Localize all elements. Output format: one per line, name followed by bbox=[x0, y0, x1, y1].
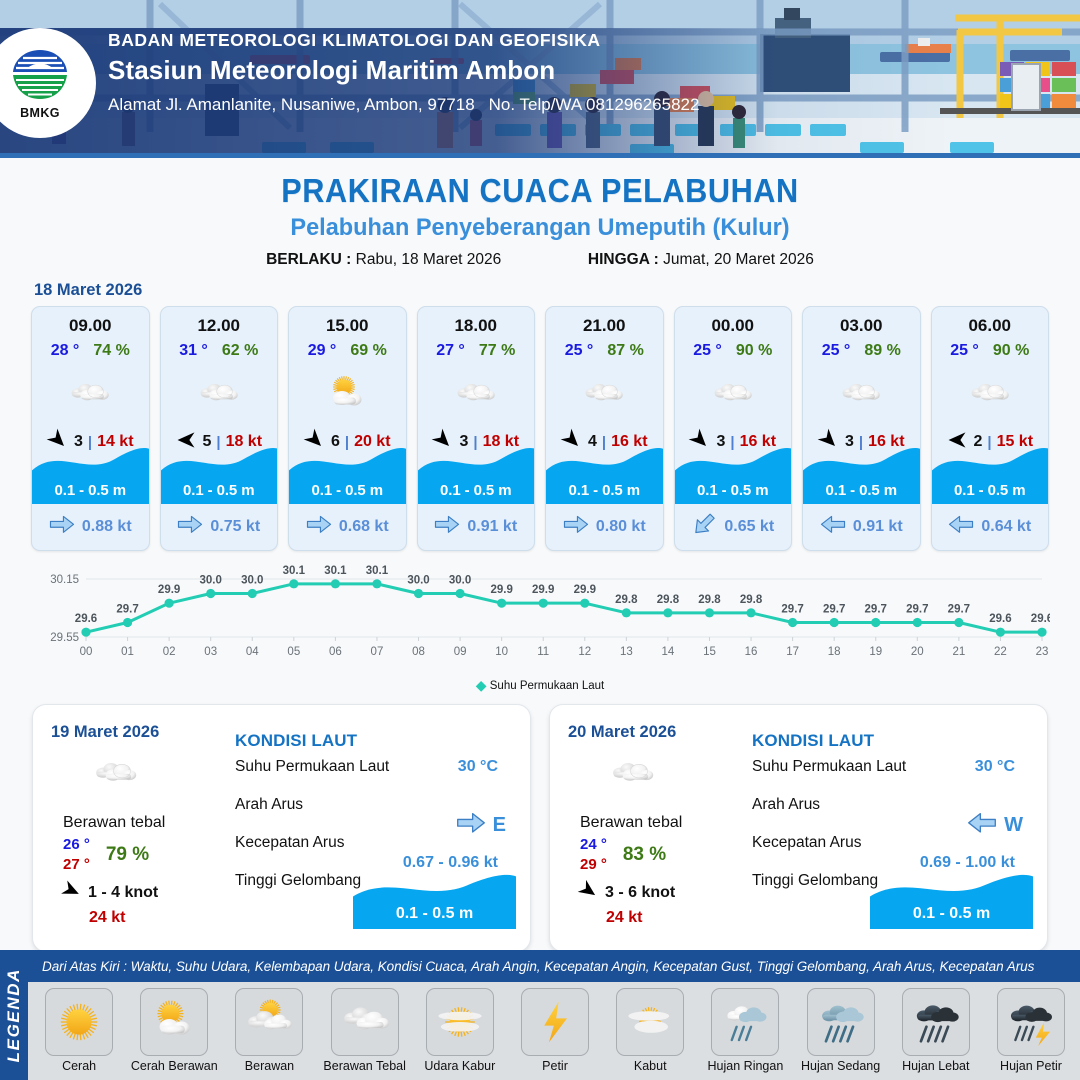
daily-wave-height: 0.1 - 0.5 m bbox=[353, 899, 516, 929]
card-current-speed: 0.88 kt bbox=[82, 518, 132, 536]
svg-text:29.8: 29.8 bbox=[698, 594, 721, 606]
svg-text:29.7: 29.7 bbox=[948, 604, 970, 616]
card-humidity: 69 % bbox=[350, 342, 386, 360]
address-text: Alamat Jl. Amanlanite, Nusaniwe, Ambon, … bbox=[108, 95, 475, 114]
header-accent-bar bbox=[0, 153, 1080, 158]
card-temp-hum: 25 ° 89 % bbox=[822, 342, 901, 360]
cloudy-icon bbox=[602, 748, 748, 802]
svg-text:10: 10 bbox=[495, 646, 508, 658]
current-speed-value: 0.69 - 1.00 kt bbox=[920, 854, 1015, 872]
page-header: BMKG BADAN METEOROLOGI KLIMATOLOGI DAN G… bbox=[0, 0, 1080, 158]
svg-text:29.9: 29.9 bbox=[490, 584, 512, 596]
legend-item-label: Kabut bbox=[634, 1059, 667, 1073]
legend-item-label: Cerah Berawan bbox=[131, 1059, 218, 1073]
station-name: Stasiun Meteorologi Maritim Ambon bbox=[108, 55, 699, 86]
card-current-row: 0.65 kt bbox=[675, 515, 792, 539]
card-wave-height: 0.1 - 0.5 m bbox=[289, 476, 406, 504]
card-time: 15.00 bbox=[326, 316, 369, 336]
hourly-card: 12.00 31 ° 62 % bbox=[160, 306, 279, 551]
fog-icon bbox=[616, 988, 684, 1056]
cloudy-icon bbox=[803, 369, 920, 421]
card-wave-height: 0.1 - 0.5 m bbox=[161, 476, 278, 504]
daily-wind-row: 1 - 4 knot bbox=[61, 880, 231, 905]
partly-cloudy-icon bbox=[289, 369, 406, 421]
daily-forecast-card: 19 Maret 2026 Berawan tebal bbox=[32, 704, 531, 952]
svg-text:08: 08 bbox=[412, 646, 425, 658]
card-temperature: 25 ° bbox=[565, 342, 594, 360]
svg-text:29.7: 29.7 bbox=[823, 604, 845, 616]
legend-item: Hujan Petir bbox=[986, 988, 1076, 1078]
card-wave-height: 0.1 - 0.5 m bbox=[803, 476, 920, 504]
hourly-card: 09.00 28 ° 74 % bbox=[31, 306, 150, 551]
daily-humidity: 83 % bbox=[623, 844, 666, 866]
page-subtitle: Pelabuhan Penyeberangan Umeputih (Kulur) bbox=[22, 214, 1059, 242]
current-direction-row: Arah Arus E bbox=[235, 796, 512, 827]
svg-text:00: 00 bbox=[80, 646, 93, 658]
current-speed-row: Kecepatan Arus 0.69 - 1.00 kt bbox=[752, 834, 1029, 865]
legend-main: Dari Atas Kiri : Waktu, Suhu Udara, Kele… bbox=[28, 950, 1080, 1080]
svg-text:09: 09 bbox=[454, 646, 467, 658]
card-temp-hum: 25 ° 90 % bbox=[950, 342, 1029, 360]
hourly-card: 21.00 25 ° 87 % bbox=[545, 306, 664, 551]
legend-item: Kabut bbox=[605, 988, 695, 1078]
sea-section-title: KONDISI LAUT bbox=[752, 731, 1029, 751]
svg-text:30.1: 30.1 bbox=[366, 565, 389, 577]
svg-text:20: 20 bbox=[911, 646, 924, 658]
daily-date: 19 Maret 2026 bbox=[51, 723, 231, 742]
svg-text:29.6: 29.6 bbox=[1031, 613, 1050, 625]
svg-text:29.7: 29.7 bbox=[906, 604, 928, 616]
light-rain-icon bbox=[711, 988, 779, 1056]
cloudy-icon bbox=[675, 369, 792, 421]
valid-to-label: HINGGA : bbox=[588, 251, 659, 268]
current-direction-arrow-icon bbox=[49, 515, 75, 539]
daily-condition: Berawan tebal bbox=[580, 814, 748, 832]
daily-wind-row: 3 - 6 knot bbox=[578, 880, 748, 905]
current-direction-label: Arah Arus bbox=[235, 796, 303, 813]
svg-text:30.0: 30.0 bbox=[449, 575, 471, 587]
svg-text:22: 22 bbox=[994, 646, 1007, 658]
card-temperature: 31 ° bbox=[179, 342, 208, 360]
svg-text:16: 16 bbox=[745, 646, 758, 658]
current-direction-arrow-icon bbox=[306, 515, 332, 539]
svg-text:30.0: 30.0 bbox=[241, 575, 263, 587]
card-humidity: 90 % bbox=[736, 342, 772, 360]
svg-text:29.7: 29.7 bbox=[865, 604, 887, 616]
legend-item-label: Hujan Ringan bbox=[708, 1059, 784, 1073]
daily-sea-conditions: KONDISI LAUT Suhu Permukaan Laut 30 °C A… bbox=[231, 705, 530, 951]
card-temp-hum: 29 ° 69 % bbox=[308, 342, 387, 360]
daily-left: 20 Maret 2026 Berawan tebal bbox=[550, 705, 748, 951]
daily-sea-conditions: KONDISI LAUT Suhu Permukaan Laut 30 °C A… bbox=[748, 705, 1047, 951]
card-current-row: 0.91 kt bbox=[803, 515, 920, 539]
daily-temp-max: 29 ° bbox=[580, 856, 607, 873]
legend-item-label: Hujan Sedang bbox=[801, 1059, 880, 1073]
sst-chart: 30.1529.55000102030405060708091011121314… bbox=[30, 565, 1050, 675]
sst-label: Suhu Permukaan Laut bbox=[235, 758, 389, 775]
svg-text:11: 11 bbox=[537, 646, 549, 658]
page-title: PRAKIRAAN CUACA PELABUHAN bbox=[38, 172, 1042, 210]
valid-from-label: BERLAKU : bbox=[266, 251, 351, 268]
svg-text:17: 17 bbox=[786, 646, 799, 658]
svg-text:30.0: 30.0 bbox=[200, 575, 222, 587]
card-temp-hum: 25 ° 90 % bbox=[693, 342, 772, 360]
legend-item: Hujan Ringan bbox=[700, 988, 790, 1078]
card-temperature: 25 ° bbox=[822, 342, 851, 360]
card-time: 21.00 bbox=[583, 316, 626, 336]
daily-wind-range: 3 - 6 knot bbox=[605, 884, 675, 902]
card-wave-height: 0.1 - 0.5 m bbox=[932, 476, 1049, 504]
card-time: 18.00 bbox=[454, 316, 497, 336]
phone-label: No. Telp/WA bbox=[489, 95, 582, 114]
svg-text:23: 23 bbox=[1036, 646, 1049, 658]
bmkg-logo-mark bbox=[9, 47, 71, 105]
card-wave-height: 0.1 - 0.5 m bbox=[418, 476, 535, 504]
hourly-card: 18.00 27 ° 77 % bbox=[417, 306, 536, 551]
daily-temp-max: 27 ° bbox=[63, 856, 90, 873]
lightning-icon bbox=[521, 988, 589, 1056]
svg-text:30.15: 30.15 bbox=[50, 574, 79, 586]
card-temperature: 29 ° bbox=[308, 342, 337, 360]
card-temperature: 28 ° bbox=[51, 342, 80, 360]
svg-text:02: 02 bbox=[163, 646, 176, 658]
contact-line: Alamat Jl. Amanlanite, Nusaniwe, Ambon, … bbox=[108, 95, 699, 115]
current-direction-arrow-icon bbox=[434, 515, 460, 539]
legend-side-label: LEGENDA bbox=[4, 968, 24, 1062]
svg-text:21: 21 bbox=[952, 646, 965, 658]
svg-text:03: 03 bbox=[204, 646, 217, 658]
svg-text:29.8: 29.8 bbox=[615, 594, 638, 606]
daily-humidity: 79 % bbox=[106, 844, 149, 866]
cloudy-icon bbox=[932, 369, 1049, 421]
current-speed-row: Kecepatan Arus 0.67 - 0.96 kt bbox=[235, 834, 512, 865]
card-current-speed: 0.91 kt bbox=[467, 518, 517, 536]
card-temp-hum: 28 ° 74 % bbox=[51, 342, 130, 360]
svg-text:29.9: 29.9 bbox=[158, 584, 180, 596]
svg-text:29.55: 29.55 bbox=[50, 632, 79, 644]
sst-label: Suhu Permukaan Laut bbox=[752, 758, 906, 775]
legend-side-banner: LEGENDA bbox=[0, 950, 28, 1080]
legend-item-label: Berawan Tebal bbox=[323, 1059, 405, 1073]
chart-legend-label: Suhu Permukaan Laut bbox=[490, 680, 604, 692]
svg-text:29.6: 29.6 bbox=[989, 613, 1011, 625]
current-direction-arrow-icon bbox=[820, 515, 846, 539]
sst-row: Suhu Permukaan Laut 30 °C bbox=[235, 758, 512, 789]
card-temp-hum: 25 ° 87 % bbox=[565, 342, 644, 360]
daily-temp-min: 24 ° bbox=[580, 836, 607, 853]
card-humidity: 77 % bbox=[479, 342, 515, 360]
sun-behind-clouds-icon bbox=[235, 988, 303, 1056]
card-current-speed: 0.80 kt bbox=[596, 518, 646, 536]
daily-wind-range: 1 - 4 knot bbox=[88, 884, 158, 902]
legend-item-label: Hujan Lebat bbox=[902, 1059, 969, 1073]
valid-to-value: Jumat, 20 Maret 2026 bbox=[663, 251, 814, 268]
sst-chart-svg: 30.1529.55000102030405060708091011121314… bbox=[30, 565, 1050, 675]
card-current-row: 0.80 kt bbox=[546, 515, 663, 539]
svg-text:18: 18 bbox=[828, 646, 841, 658]
cloudy-icon bbox=[161, 369, 278, 421]
card-current-speed: 0.91 kt bbox=[853, 518, 903, 536]
daily-gust: 24 kt bbox=[89, 909, 231, 927]
cloudy-icon bbox=[85, 748, 231, 802]
card-current-row: 0.75 kt bbox=[161, 515, 278, 539]
hourly-forecast-row: 09.00 28 ° 74 % bbox=[0, 306, 1080, 551]
card-current-speed: 0.65 kt bbox=[724, 518, 774, 536]
sst-value: 30 °C bbox=[458, 758, 498, 776]
daily-wave-height: 0.1 - 0.5 m bbox=[870, 899, 1033, 929]
current-direction-row: Arah Arus W bbox=[752, 796, 1029, 827]
svg-text:29.8: 29.8 bbox=[657, 594, 680, 606]
legend-item-label: Berawan bbox=[245, 1059, 294, 1073]
svg-text:19: 19 bbox=[869, 646, 882, 658]
svg-text:12: 12 bbox=[578, 646, 591, 658]
legend-item: Petir bbox=[510, 988, 600, 1078]
card-humidity: 89 % bbox=[864, 342, 900, 360]
card-temp-hum: 27 ° 77 % bbox=[436, 342, 515, 360]
current-speed-label: Kecepatan Arus bbox=[752, 834, 861, 851]
sea-section-title: KONDISI LAUT bbox=[235, 731, 512, 751]
daily-gust: 24 kt bbox=[606, 909, 748, 927]
current-speed-value: 0.67 - 0.96 kt bbox=[403, 854, 498, 872]
heavy-rain-icon bbox=[902, 988, 970, 1056]
card-current-row: 0.88 kt bbox=[32, 515, 149, 539]
wave-height-label: Tinggi Gelombang bbox=[235, 872, 361, 889]
daily-forecast-row: 19 Maret 2026 Berawan tebal bbox=[0, 694, 1080, 952]
current-speed-label: Kecepatan Arus bbox=[235, 834, 344, 851]
legend-item: Cerah bbox=[34, 988, 124, 1078]
wind-direction-arrow-icon bbox=[61, 880, 82, 905]
cloudy-icon bbox=[418, 369, 535, 421]
legend-item-label: Petir bbox=[542, 1059, 568, 1073]
haze-icon bbox=[426, 988, 494, 1056]
chart-legend-marker-icon: ◆ bbox=[476, 677, 487, 693]
svg-text:30.1: 30.1 bbox=[324, 565, 347, 577]
card-current-speed: 0.75 kt bbox=[210, 518, 260, 536]
card-current-row: 0.64 kt bbox=[932, 515, 1049, 539]
hourly-card: 06.00 25 ° 90 % bbox=[931, 306, 1050, 551]
svg-text:30.1: 30.1 bbox=[283, 565, 306, 577]
legend-item: Berawan Tebal bbox=[320, 988, 410, 1078]
daily-left: 19 Maret 2026 Berawan tebal bbox=[33, 705, 231, 951]
card-current-speed: 0.64 kt bbox=[981, 518, 1031, 536]
legend-item-label: Hujan Petir bbox=[1000, 1059, 1062, 1073]
card-time: 09.00 bbox=[69, 316, 112, 336]
legend-section: LEGENDA Dari Atas Kiri : Waktu, Suhu Uda… bbox=[0, 950, 1080, 1080]
cloudy-icon bbox=[32, 369, 149, 421]
card-humidity: 87 % bbox=[607, 342, 643, 360]
svg-text:29.6: 29.6 bbox=[75, 613, 97, 625]
current-direction-arrow-icon bbox=[177, 515, 203, 539]
svg-text:15: 15 bbox=[703, 646, 716, 658]
wind-direction-arrow-icon bbox=[578, 880, 599, 905]
daily-condition: Berawan tebal bbox=[63, 814, 231, 832]
svg-text:29.9: 29.9 bbox=[532, 584, 554, 596]
current-direction-label: Arah Arus bbox=[752, 796, 820, 813]
card-time: 12.00 bbox=[197, 316, 240, 336]
card-current-row: 0.91 kt bbox=[418, 515, 535, 539]
moderate-rain-icon bbox=[807, 988, 875, 1056]
card-humidity: 90 % bbox=[993, 342, 1029, 360]
legend-item: Hujan Lebat bbox=[891, 988, 981, 1078]
card-wave-height: 0.1 - 0.5 m bbox=[546, 476, 663, 504]
card-temp-hum: 31 ° 62 % bbox=[179, 342, 258, 360]
daily-date: 20 Maret 2026 bbox=[568, 723, 748, 742]
legend-note: Dari Atas Kiri : Waktu, Suhu Udara, Kele… bbox=[28, 950, 1080, 982]
daily-forecast-card: 20 Maret 2026 Berawan tebal bbox=[549, 704, 1048, 952]
svg-text:06: 06 bbox=[329, 646, 342, 658]
card-time: 03.00 bbox=[840, 316, 883, 336]
legend-item: Hujan Sedang bbox=[796, 988, 886, 1078]
sun-icon bbox=[45, 988, 113, 1056]
card-wave-height: 0.1 - 0.5 m bbox=[32, 476, 149, 504]
legend-item-label: Cerah bbox=[62, 1059, 96, 1073]
daily-temp-min: 26 ° bbox=[63, 836, 90, 853]
card-current-speed: 0.68 kt bbox=[339, 518, 389, 536]
header-text-block: BADAN METEOROLOGI KLIMATOLOGI DAN GEOFIS… bbox=[108, 30, 699, 115]
bmkg-logo-text: BMKG bbox=[20, 106, 60, 120]
card-time: 00.00 bbox=[711, 316, 754, 336]
current-direction-arrow-icon bbox=[563, 515, 589, 539]
card-humidity: 74 % bbox=[93, 342, 129, 360]
svg-text:14: 14 bbox=[662, 646, 675, 658]
hourly-card: 00.00 25 ° 90 % bbox=[674, 306, 793, 551]
card-temperature: 25 ° bbox=[693, 342, 722, 360]
hourly-date-label: 18 Maret 2026 bbox=[34, 281, 1080, 300]
sst-row: Suhu Permukaan Laut 30 °C bbox=[752, 758, 1029, 789]
legend-item: Berawan bbox=[224, 988, 314, 1078]
wave-height-label: Tinggi Gelombang bbox=[752, 872, 878, 889]
svg-text:13: 13 bbox=[620, 646, 633, 658]
legend-item-label: Udara Kabur bbox=[424, 1059, 495, 1073]
agency-name: BADAN METEOROLOGI KLIMATOLOGI DAN GEOFIS… bbox=[108, 30, 699, 51]
phone-number: 081296265822 bbox=[586, 95, 699, 114]
sst-value: 30 °C bbox=[975, 758, 1015, 776]
svg-text:07: 07 bbox=[371, 646, 384, 658]
card-wave-height: 0.1 - 0.5 m bbox=[675, 476, 792, 504]
legend-items: Cerah Cerah Berawan bbox=[28, 982, 1080, 1080]
hourly-card: 03.00 25 ° 89 % bbox=[802, 306, 921, 551]
svg-text:30.0: 30.0 bbox=[407, 575, 429, 587]
current-direction-arrow-icon bbox=[948, 515, 974, 539]
sun-small-cloud-icon bbox=[140, 988, 208, 1056]
chart-legend: ◆ Suhu Permukaan Laut bbox=[0, 677, 1080, 694]
hourly-card: 15.00 29 ° 69 % 6 | 20 kt bbox=[288, 306, 407, 551]
svg-text:29.9: 29.9 bbox=[574, 584, 596, 596]
card-time: 06.00 bbox=[968, 316, 1011, 336]
svg-text:29.7: 29.7 bbox=[116, 604, 138, 616]
card-temperature: 27 ° bbox=[436, 342, 465, 360]
thunderstorm-icon bbox=[997, 988, 1065, 1056]
svg-text:04: 04 bbox=[246, 646, 259, 658]
daily-temps: 24 ° 29 ° 83 % bbox=[580, 836, 748, 873]
validity-row: BERLAKU : Rabu, 18 Maret 2026 HINGGA : J… bbox=[0, 251, 1080, 269]
svg-text:29.8: 29.8 bbox=[740, 594, 763, 606]
card-humidity: 62 % bbox=[222, 342, 258, 360]
legend-item: Udara Kabur bbox=[415, 988, 505, 1078]
svg-text:01: 01 bbox=[121, 646, 134, 658]
svg-text:29.7: 29.7 bbox=[781, 604, 803, 616]
valid-from-value: Rabu, 18 Maret 2026 bbox=[356, 251, 502, 268]
card-current-row: 0.68 kt bbox=[289, 515, 406, 539]
svg-text:05: 05 bbox=[287, 646, 300, 658]
current-direction-arrow-icon bbox=[691, 515, 717, 539]
card-temperature: 25 ° bbox=[950, 342, 979, 360]
title-section: PRAKIRAAN CUACA PELABUHAN Pelabuhan Peny… bbox=[0, 158, 1080, 269]
legend-item: Cerah Berawan bbox=[129, 988, 219, 1078]
daily-temps: 26 ° 27 ° 79 % bbox=[63, 836, 231, 873]
heavy-clouds-icon bbox=[331, 988, 399, 1056]
cloudy-icon bbox=[546, 369, 663, 421]
